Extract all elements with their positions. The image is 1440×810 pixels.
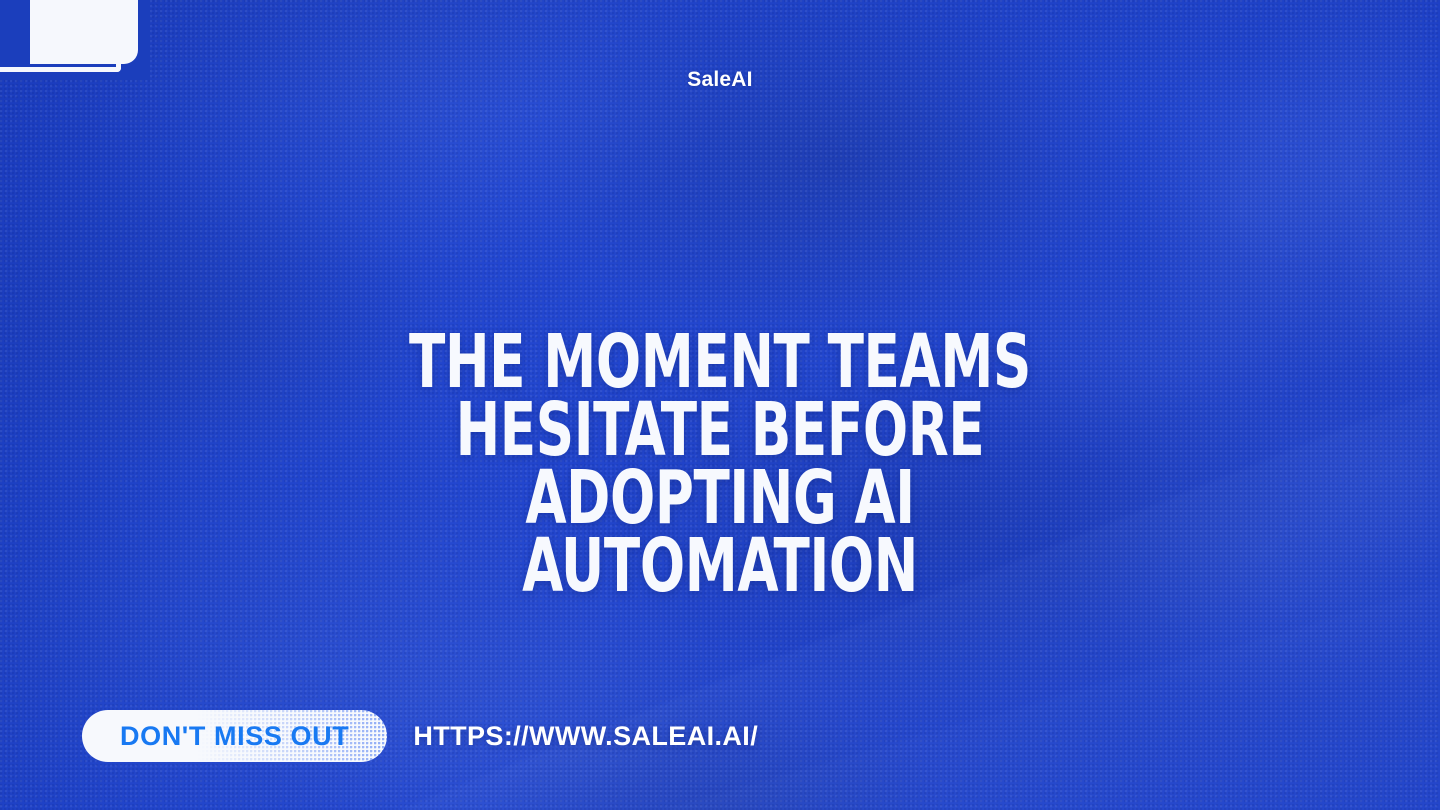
cta-label: DON'T MISS OUT	[120, 721, 349, 752]
social-promo-card: SaleAI THE MOMENT TEAMS HESITATE BEFORE …	[0, 0, 1440, 810]
footer: DON'T MISS OUT HTTPS://WWW.SALEAI.AI/	[82, 710, 758, 762]
brand-name: SaleAI	[0, 68, 1440, 92]
dont-miss-out-button[interactable]: DON'T MISS OUT	[82, 710, 387, 762]
headline-line-2: ADOPTING AI AUTOMATION	[320, 464, 1120, 600]
saleai-logo-icon	[30, 0, 138, 64]
headline: THE MOMENT TEAMS HESITATE BEFORE ADOPTIN…	[220, 328, 1220, 600]
site-url-link[interactable]: HTTPS://WWW.SALEAI.AI/	[413, 721, 758, 752]
headline-line-1: THE MOMENT TEAMS HESITATE BEFORE	[320, 328, 1120, 464]
